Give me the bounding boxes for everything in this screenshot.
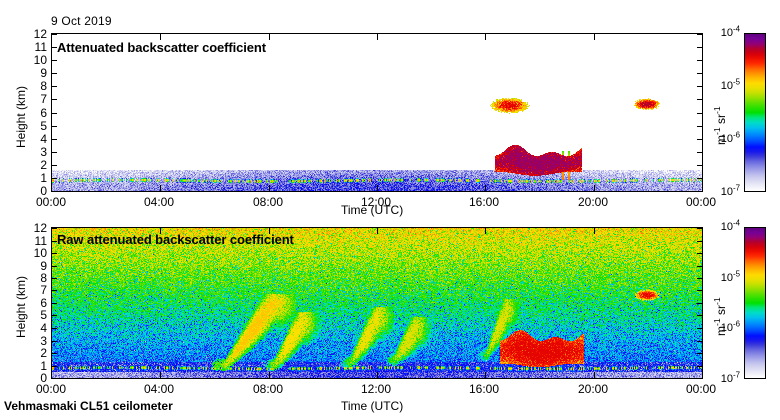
y-tick-right-1-panel-2 (697, 366, 702, 367)
y-tick-label-7-panel-2: 7 (5, 283, 47, 297)
y-tick-right-2-panel-2 (697, 353, 702, 354)
y-tick-12-panel-2 (52, 228, 57, 229)
x-tick-top-16:00-panel-1 (485, 34, 486, 40)
x-axis-label-panel-2: Time (UTC) (341, 399, 403, 413)
colorbar-tick--6-panel-2: 10-6 (702, 322, 740, 334)
y-tick-right-6-panel-2 (697, 303, 702, 304)
y-tick-right-9-panel-2 (697, 266, 702, 267)
x-tick-16:00-panel-2 (485, 372, 486, 378)
y-tick-4-panel-2 (52, 328, 57, 329)
y-tick-10-panel-1 (52, 60, 57, 61)
y-tick-6-panel-1 (52, 113, 57, 114)
colorbar-tick--7-panel-1: 10-7 (702, 186, 740, 198)
colorbar-tick--4-panel-2: 10-4 (702, 221, 740, 233)
y-tick-right-7-panel-1 (697, 99, 702, 100)
x-tick-20:00-panel-1 (594, 185, 595, 191)
station-footer-label: Vehmasmaki CL51 ceilometer (4, 399, 173, 413)
y-tick-10-panel-2 (52, 253, 57, 254)
date-label: 9 Oct 2019 (51, 14, 112, 28)
y-tick-right-12-panel-2 (697, 228, 702, 229)
y-tick-label-4-panel-1: 4 (5, 132, 47, 146)
y-tick-label-5-panel-2: 5 (5, 308, 47, 322)
colorbar-tick--7-panel-2: 10-7 (702, 373, 740, 385)
x-tick-label-04:00-panel-2: 04:00 (144, 382, 174, 396)
y-tick-8-panel-2 (52, 278, 57, 279)
y-tick-right-11-panel-2 (697, 241, 702, 242)
colorbar-tick--6-panel-1: 10-6 (702, 133, 740, 145)
x-tick-top-20:00-panel-1 (594, 34, 595, 40)
y-tick-9-panel-2 (52, 266, 57, 267)
y-tick-label-3-panel-1: 3 (5, 145, 47, 159)
heatmap-raw-attenuated-backscatter (52, 228, 702, 378)
panel-attenuated-backscatter (51, 33, 703, 192)
x-tick-label-00:00-panel-2: 00:00 (36, 382, 66, 396)
y-tick-2-panel-2 (52, 353, 57, 354)
y-tick-right-11-panel-1 (697, 47, 702, 48)
panel-title-raw-attenuated-backscatter: Raw attenuated backscatter coefficient (57, 232, 294, 247)
y-tick-3-panel-2 (52, 341, 57, 342)
y-tick-label-6-panel-1: 6 (5, 106, 47, 120)
x-tick-label-16:00-panel-1: 16:00 (469, 195, 499, 209)
x-tick-label-08:00-panel-2: 08:00 (253, 382, 283, 396)
colorbar-tick--5-panel-2: 10-5 (702, 272, 740, 284)
colorbar-panel-1 (744, 33, 766, 192)
x-tick-label-20:00-panel-2: 20:00 (578, 382, 608, 396)
y-tick-label-5-panel-1: 5 (5, 119, 47, 133)
y-tick-label-1-panel-1: 1 (5, 171, 47, 185)
x-tick-08:00-panel-2 (269, 372, 270, 378)
y-tick-label-11-panel-1: 11 (5, 40, 47, 54)
y-tick-right-1-panel-1 (697, 178, 702, 179)
y-tick-right-6-panel-1 (697, 113, 702, 114)
y-tick-right-5-panel-1 (697, 126, 702, 127)
y-tick-right-10-panel-1 (697, 60, 702, 61)
y-tick-12-panel-1 (52, 34, 57, 35)
x-tick-12:00-panel-2 (377, 372, 378, 378)
x-tick-top-12:00-panel-2 (377, 228, 378, 234)
x-tick-top-20:00-panel-2 (594, 228, 595, 234)
x-tick-label-12:00-panel-1: 12:00 (361, 195, 391, 209)
colorbar-tick--5-panel-1: 10-5 (702, 80, 740, 92)
ceilometer-figure: 9 Oct 2019 Attenuated backscatter coeffi… (0, 0, 780, 420)
x-tick-04:00-panel-2 (160, 372, 161, 378)
y-tick-right-7-panel-2 (697, 290, 702, 291)
y-tick-label-8-panel-1: 8 (5, 79, 47, 93)
y-tick-label-7-panel-1: 7 (5, 92, 47, 106)
y-tick-right-3-panel-2 (697, 341, 702, 342)
x-tick-label-12:00-panel-2: 12:00 (361, 382, 391, 396)
y-tick-right-3-panel-1 (697, 152, 702, 153)
x-tick-08:00-panel-1 (269, 185, 270, 191)
y-tick-right-12-panel-1 (697, 34, 702, 35)
y-tick-right-5-panel-2 (697, 315, 702, 316)
y-tick-label-11-panel-2: 11 (5, 234, 47, 248)
plot-area-attenuated-backscatter (52, 34, 702, 191)
y-tick-right-9-panel-1 (697, 73, 702, 74)
x-tick-20:00-panel-2 (594, 372, 595, 378)
y-tick-8-panel-1 (52, 86, 57, 87)
x-tick-label-04:00-panel-1: 04:00 (144, 195, 174, 209)
y-tick-5-panel-1 (52, 126, 57, 127)
y-tick-label-2-panel-1: 2 (5, 158, 47, 172)
colorbar-tick--4-panel-1: 10-4 (702, 27, 740, 39)
heatmap-attenuated-backscatter (52, 34, 702, 191)
x-tick-top-08:00-panel-1 (269, 34, 270, 40)
y-tick-right-2-panel-1 (697, 165, 702, 166)
y-tick-label-12-panel-2: 12 (5, 221, 47, 235)
y-tick-right-4-panel-2 (697, 328, 702, 329)
y-tick-label-10-panel-2: 10 (5, 246, 47, 260)
panel-raw-attenuated-backscatter (51, 227, 703, 379)
y-tick-7-panel-2 (52, 290, 57, 291)
x-tick-label-16:00-panel-2: 16:00 (469, 382, 499, 396)
y-tick-label-9-panel-1: 9 (5, 66, 47, 80)
y-tick-label-1-panel-2: 1 (5, 359, 47, 373)
y-tick-1-panel-1 (52, 178, 57, 179)
y-tick-label-6-panel-2: 6 (5, 296, 47, 310)
x-tick-12:00-panel-1 (377, 185, 378, 191)
plot-area-raw-attenuated-backscatter (52, 228, 702, 378)
y-tick-right-10-panel-2 (697, 253, 702, 254)
y-tick-1-panel-2 (52, 366, 57, 367)
y-tick-label-10-panel-1: 10 (5, 53, 47, 67)
colorbar-panel-2 (744, 227, 766, 379)
y-tick-right-4-panel-1 (697, 139, 702, 140)
y-tick-right-8-panel-2 (697, 278, 702, 279)
x-tick-top-12:00-panel-1 (377, 34, 378, 40)
y-tick-label-4-panel-2: 4 (5, 321, 47, 335)
x-tick-label-08:00-panel-1: 08:00 (253, 195, 283, 209)
y-tick-right-8-panel-1 (697, 86, 702, 87)
y-tick-2-panel-1 (52, 165, 57, 166)
x-tick-top-16:00-panel-2 (485, 228, 486, 234)
x-tick-04:00-panel-1 (160, 185, 161, 191)
y-tick-7-panel-1 (52, 99, 57, 100)
y-tick-3-panel-1 (52, 152, 57, 153)
y-tick-4-panel-1 (52, 139, 57, 140)
y-tick-5-panel-2 (52, 315, 57, 316)
y-tick-label-9-panel-2: 9 (5, 259, 47, 273)
y-tick-9-panel-1 (52, 73, 57, 74)
y-tick-label-3-panel-2: 3 (5, 334, 47, 348)
x-tick-16:00-panel-1 (485, 185, 486, 191)
x-tick-label-00:00-panel-1: 00:00 (36, 195, 66, 209)
y-tick-label-2-panel-2: 2 (5, 346, 47, 360)
y-tick-label-12-panel-1: 12 (5, 27, 47, 41)
y-tick-6-panel-2 (52, 303, 57, 304)
panel-title-attenuated-backscatter: Attenuated backscatter coefficient (57, 40, 266, 55)
x-tick-label-20:00-panel-1: 20:00 (578, 195, 608, 209)
y-tick-label-8-panel-2: 8 (5, 271, 47, 285)
